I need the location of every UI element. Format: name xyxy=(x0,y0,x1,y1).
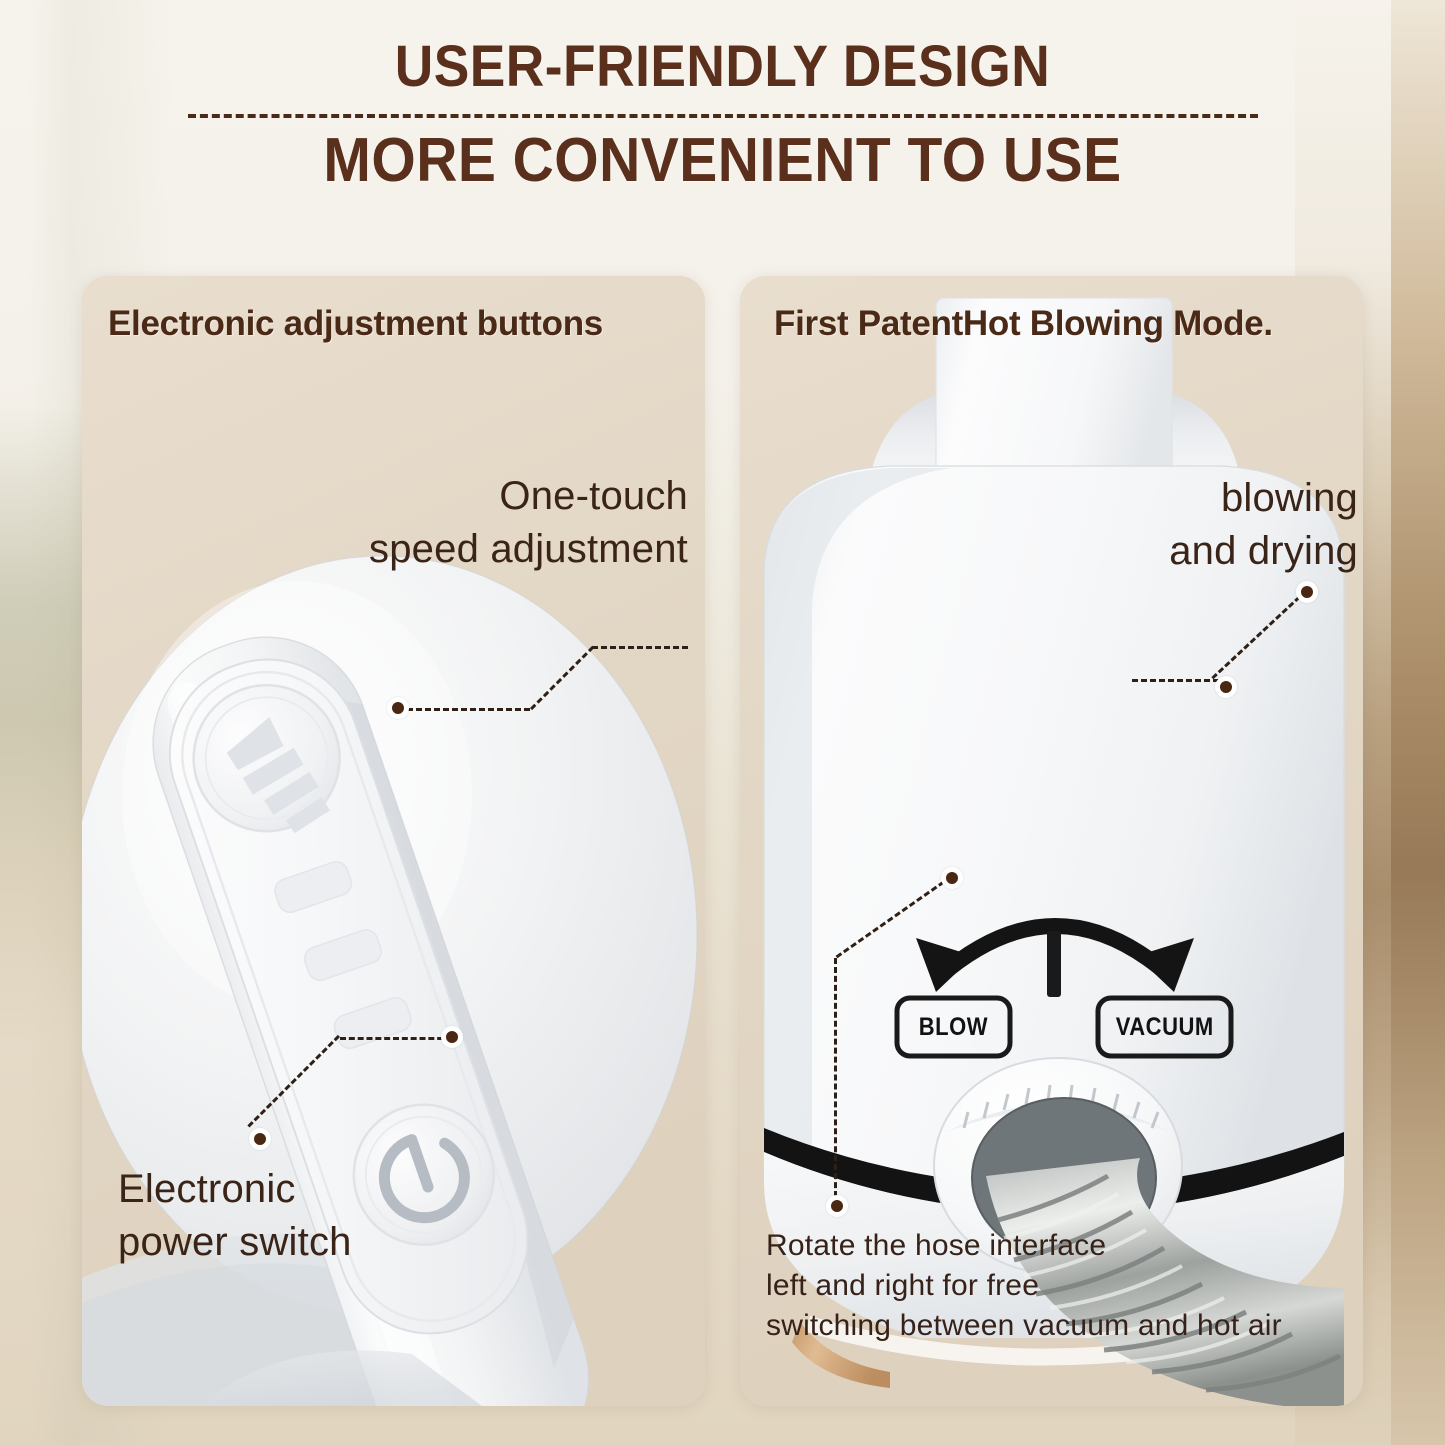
anno-line: switching between vacuum and hot air xyxy=(766,1306,1326,1346)
headline-line-2: MORE CONVENIENT TO USE xyxy=(58,122,1387,192)
anno-line: left and right for free xyxy=(766,1266,1326,1306)
anno-line: Rotate the hose interface xyxy=(766,1226,1326,1266)
anno-blowing-and-drying: blowing and drying xyxy=(1000,472,1358,578)
leader-dot-blowing-label xyxy=(1296,581,1318,603)
blow-label-box[interactable]: BLOW xyxy=(897,998,1010,1056)
anno-line: Electronic xyxy=(118,1163,518,1216)
anno-rotate-hose-interface: Rotate the hose interface left and right… xyxy=(766,1226,1326,1346)
leader-line-speed-h2 xyxy=(592,646,688,649)
anno-electronic-power-switch: Electronic power switch xyxy=(118,1163,518,1269)
anno-line: blowing xyxy=(1000,472,1358,525)
leader-dot-power-label xyxy=(249,1128,271,1150)
leader-dot-hose-label xyxy=(826,1195,848,1217)
leader-dot-hose-interface xyxy=(941,867,963,889)
headline-divider xyxy=(188,114,1258,118)
vacuum-label-box[interactable]: VACUUM xyxy=(1098,998,1231,1056)
leader-line-speed-h xyxy=(398,708,530,711)
blow-label: BLOW xyxy=(919,1013,988,1042)
leader-dot-speed-button xyxy=(387,697,409,719)
anno-one-touch-speed-adjustment: One-touch speed adjustment xyxy=(300,470,688,576)
vacuum-label: VACUUM xyxy=(1115,1013,1213,1042)
anno-line: and drying xyxy=(1000,525,1358,578)
leader-dot-power-button xyxy=(441,1026,463,1048)
background-right-edge-gradient xyxy=(1391,0,1445,1445)
anno-line: speed adjustment xyxy=(300,523,688,576)
leader-line-hose-v xyxy=(834,958,837,1206)
leader-dot-blow-anchor xyxy=(1215,676,1237,698)
headline-line-1: USER-FRIENDLY DESIGN xyxy=(58,38,1387,102)
anno-line: One-touch xyxy=(300,470,688,523)
anno-line: power switch xyxy=(118,1216,518,1269)
leader-line-blow-h xyxy=(1132,679,1228,682)
headline-block: USER-FRIENDLY DESIGN MORE CONVENIENT TO … xyxy=(0,38,1445,192)
leader-line-power-h xyxy=(340,1037,452,1040)
